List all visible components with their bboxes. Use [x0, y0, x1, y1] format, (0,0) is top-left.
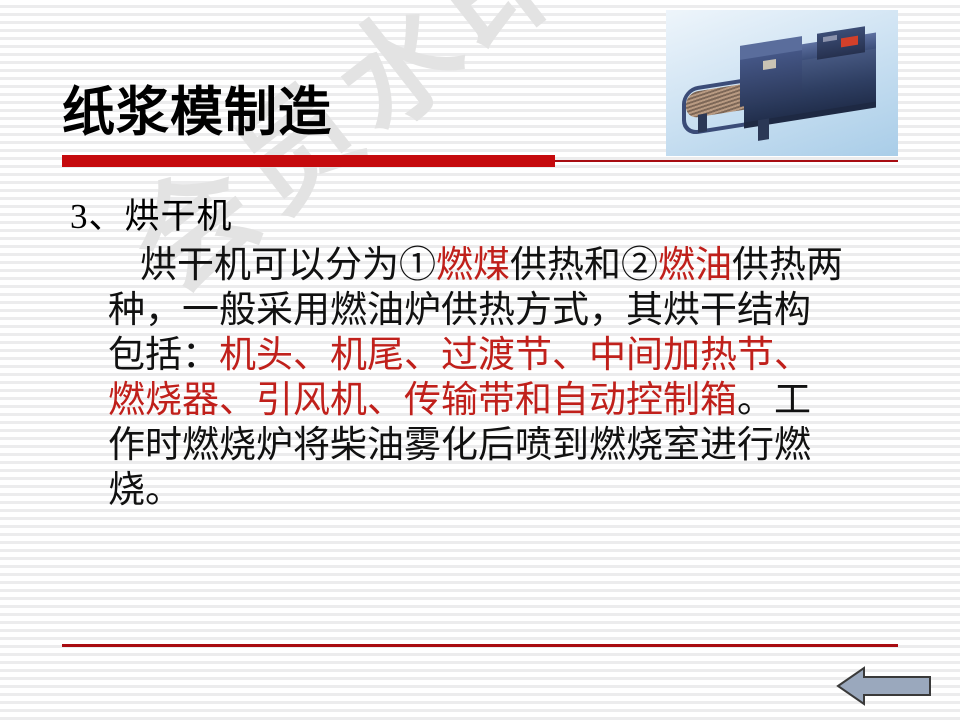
section-heading: 3、烘干机 [70, 188, 233, 239]
body-text: 作时燃烧炉将柴油雾化后喷到燃烧室进行燃 [108, 425, 811, 466]
slide-canvas: 会员水印 烘干机设备照片 纸浆模制造 3、烘干机 烘干机可以分为①燃煤供热和②燃… [0, 0, 960, 720]
body-paragraph: 烘干机可以分为①燃煤供热和②燃油供热两种，一般采用燃油炉供热方式，其烘干结构包括… [108, 243, 920, 513]
dryer-machine-photo: 烘干机设备照片 [666, 10, 898, 156]
title-rule-thick [62, 155, 555, 167]
paragraph-line: 烧。 [108, 468, 920, 513]
machine-leg-front [698, 113, 707, 132]
back-arrow-button[interactable] [836, 664, 932, 708]
arrow-left-icon[interactable] [836, 664, 932, 708]
paragraph-line: 烘干机可以分为①燃煤供热和②燃油供热两 [108, 243, 920, 288]
paragraph-line: 种，一般采用燃油炉供热方式，其烘干结构 [108, 288, 920, 333]
paragraph-line: 燃烧器、引风机、传输带和自动控制箱。工 [108, 378, 920, 423]
highlighted-text: 机头、机尾、过渡节、中间加热节、 [219, 335, 811, 376]
paragraph-line: 作时燃烧炉将柴油雾化后喷到燃烧室进行燃 [108, 423, 920, 468]
highlighted-text: 燃烧器、引风机、传输带和自动控制箱 [108, 380, 737, 421]
body-text: 种，一般采用燃油炉供热方式，其烘干结构 [108, 290, 811, 331]
footer-rule [62, 644, 898, 647]
machine-leg-rear [758, 117, 769, 141]
highlighted-text: 燃煤 [436, 245, 510, 286]
body-text: 烧。 [108, 470, 182, 511]
body-text: 供热和② [510, 245, 658, 286]
page-title: 纸浆模制造 [62, 86, 332, 142]
body-text: 烘干机可以分为① [140, 245, 436, 286]
highlighted-text: 燃油 [658, 245, 732, 286]
body-text: 供热两 [732, 245, 843, 286]
paragraph-line: 包括：机头、机尾、过渡节、中间加热节、 [108, 333, 920, 378]
body-text: 。工 [737, 380, 811, 421]
body-text: 包括： [108, 335, 219, 376]
